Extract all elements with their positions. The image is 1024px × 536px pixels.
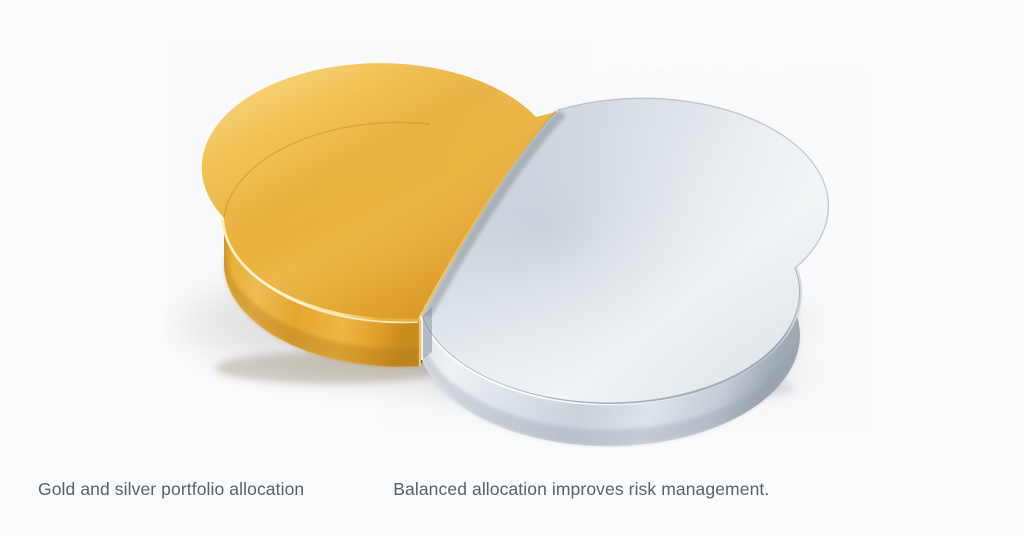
caption-left: Gold and silver portfolio allocation: [38, 478, 304, 500]
pie-chart-illustration: Gold and silver portfolio allocation Bal…: [0, 0, 1024, 536]
caption-right: Balanced allocation improves risk manage…: [393, 478, 769, 500]
pie-chart-graphic: [0, 0, 1024, 536]
caption-row: Gold and silver portfolio allocation Bal…: [0, 478, 1024, 500]
